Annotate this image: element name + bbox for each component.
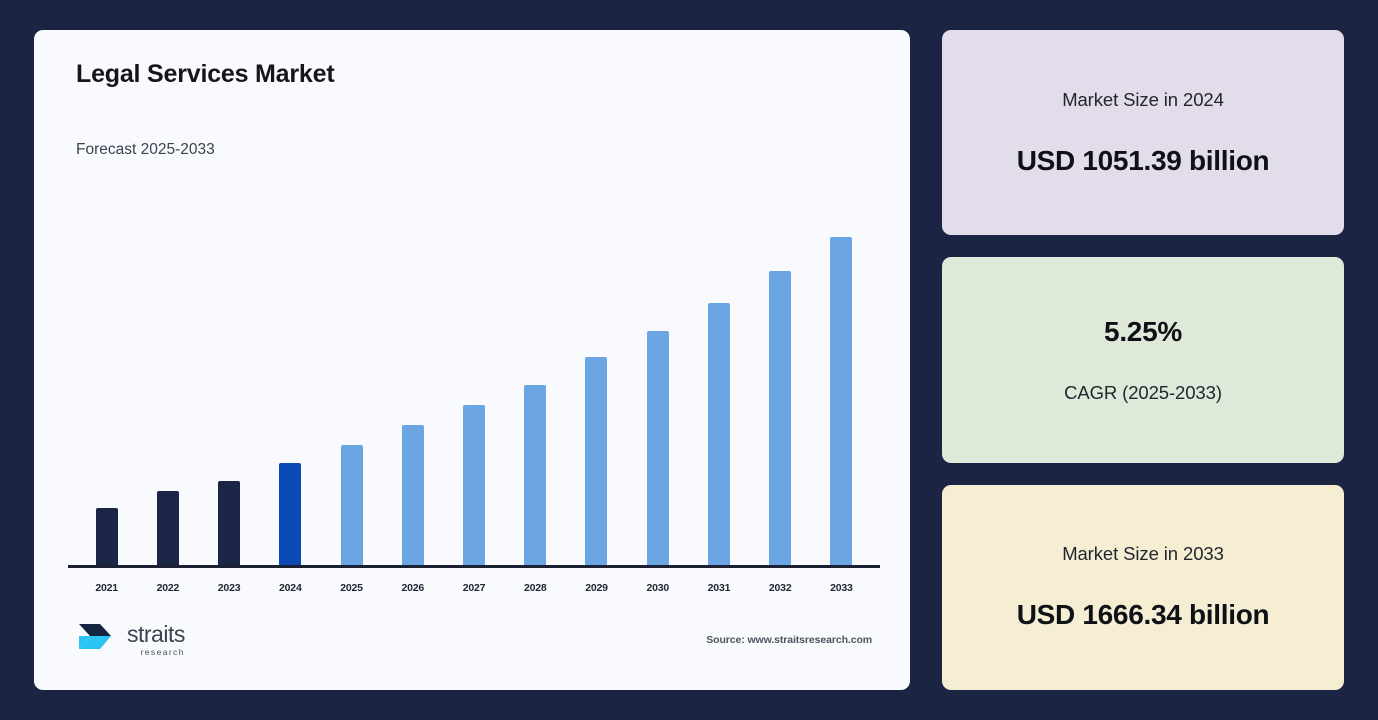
chart-subtitle: Forecast 2025-2033 [76,141,884,159]
stat-label-market-size-2024: Market Size in 2024 [1062,89,1224,111]
stat-value-cagr: 5.25% [1104,316,1182,348]
x-tick-2024: 2024 [260,582,321,594]
x-tick-2032: 2032 [750,582,811,594]
bar-slot-2028 [505,177,566,568]
bar-slot-2024 [260,177,321,568]
logo-wordmark: straits research [127,623,185,657]
x-tick-2031: 2031 [688,582,749,594]
bar-slot-2023 [198,177,259,568]
stat-label-cagr: CAGR (2025-2033) [1064,382,1222,404]
bar-2025 [341,445,363,568]
bar-2031 [708,303,730,568]
bar-slot-2025 [321,177,382,568]
stat-label-market-size-2033: Market Size in 2033 [1062,543,1224,565]
bar-slot-2021 [76,177,137,568]
x-tick-2022: 2022 [137,582,198,594]
bar-2029 [585,357,607,568]
bar-2028 [524,385,546,568]
bar-slot-2031 [688,177,749,568]
stat-value-market-size-2024: USD 1051.39 billion [1017,145,1270,177]
bar-slot-2027 [443,177,504,568]
bar-chart-plot-area: 2021202220232024202520262027202820292030… [76,177,872,606]
x-tick-2027: 2027 [443,582,504,594]
bar-series [76,177,872,568]
bar-2032 [769,271,791,568]
stat-cards-column: Market Size in 2024USD 1051.39 billion5.… [942,30,1344,690]
x-tick-2026: 2026 [382,582,443,594]
stat-value-market-size-2033: USD 1666.34 billion [1017,599,1270,631]
bar-2030 [647,331,669,568]
x-axis-line [68,565,880,568]
bar-slot-2032 [750,177,811,568]
bar-2022 [157,491,179,568]
bar-2023 [218,481,240,568]
page-title: Legal Services Market [76,60,884,89]
bar-slot-2030 [627,177,688,568]
chart-panel: Legal Services Market Forecast 2025-2033… [34,30,910,690]
infographic-root: Legal Services Market Forecast 2025-2033… [0,0,1378,720]
bar-slot-2029 [566,177,627,568]
chart-footer: straits research Source: www.straitsrese… [60,612,884,668]
x-tick-2029: 2029 [566,582,627,594]
bar-2033 [830,237,852,568]
straits-research-logo: straits research [76,620,185,660]
bar-2027 [463,405,485,568]
stat-card-cagr: 5.25%CAGR (2025-2033) [942,257,1344,462]
x-tick-2021: 2021 [76,582,137,594]
bar-2024 [279,463,301,568]
straits-chevron-logo-icon [76,620,120,660]
logo-word: straits [127,623,185,646]
x-tick-2028: 2028 [505,582,566,594]
x-tick-2023: 2023 [198,582,259,594]
x-tick-2033: 2033 [811,582,872,594]
bar-slot-2022 [137,177,198,568]
bar-slot-2026 [382,177,443,568]
stat-card-market-size-2024: Market Size in 2024USD 1051.39 billion [942,30,1344,235]
bar-slot-2033 [811,177,872,568]
x-tick-2030: 2030 [627,582,688,594]
stat-card-market-size-2033: Market Size in 2033USD 1666.34 billion [942,485,1344,690]
x-axis-tick-labels: 2021202220232024202520262027202820292030… [76,582,872,594]
bar-2026 [402,425,424,568]
bar-2021 [96,508,118,568]
logo-subword: research [127,648,185,657]
source-attribution: Source: www.straitsresearch.com [706,634,872,646]
x-tick-2025: 2025 [321,582,382,594]
